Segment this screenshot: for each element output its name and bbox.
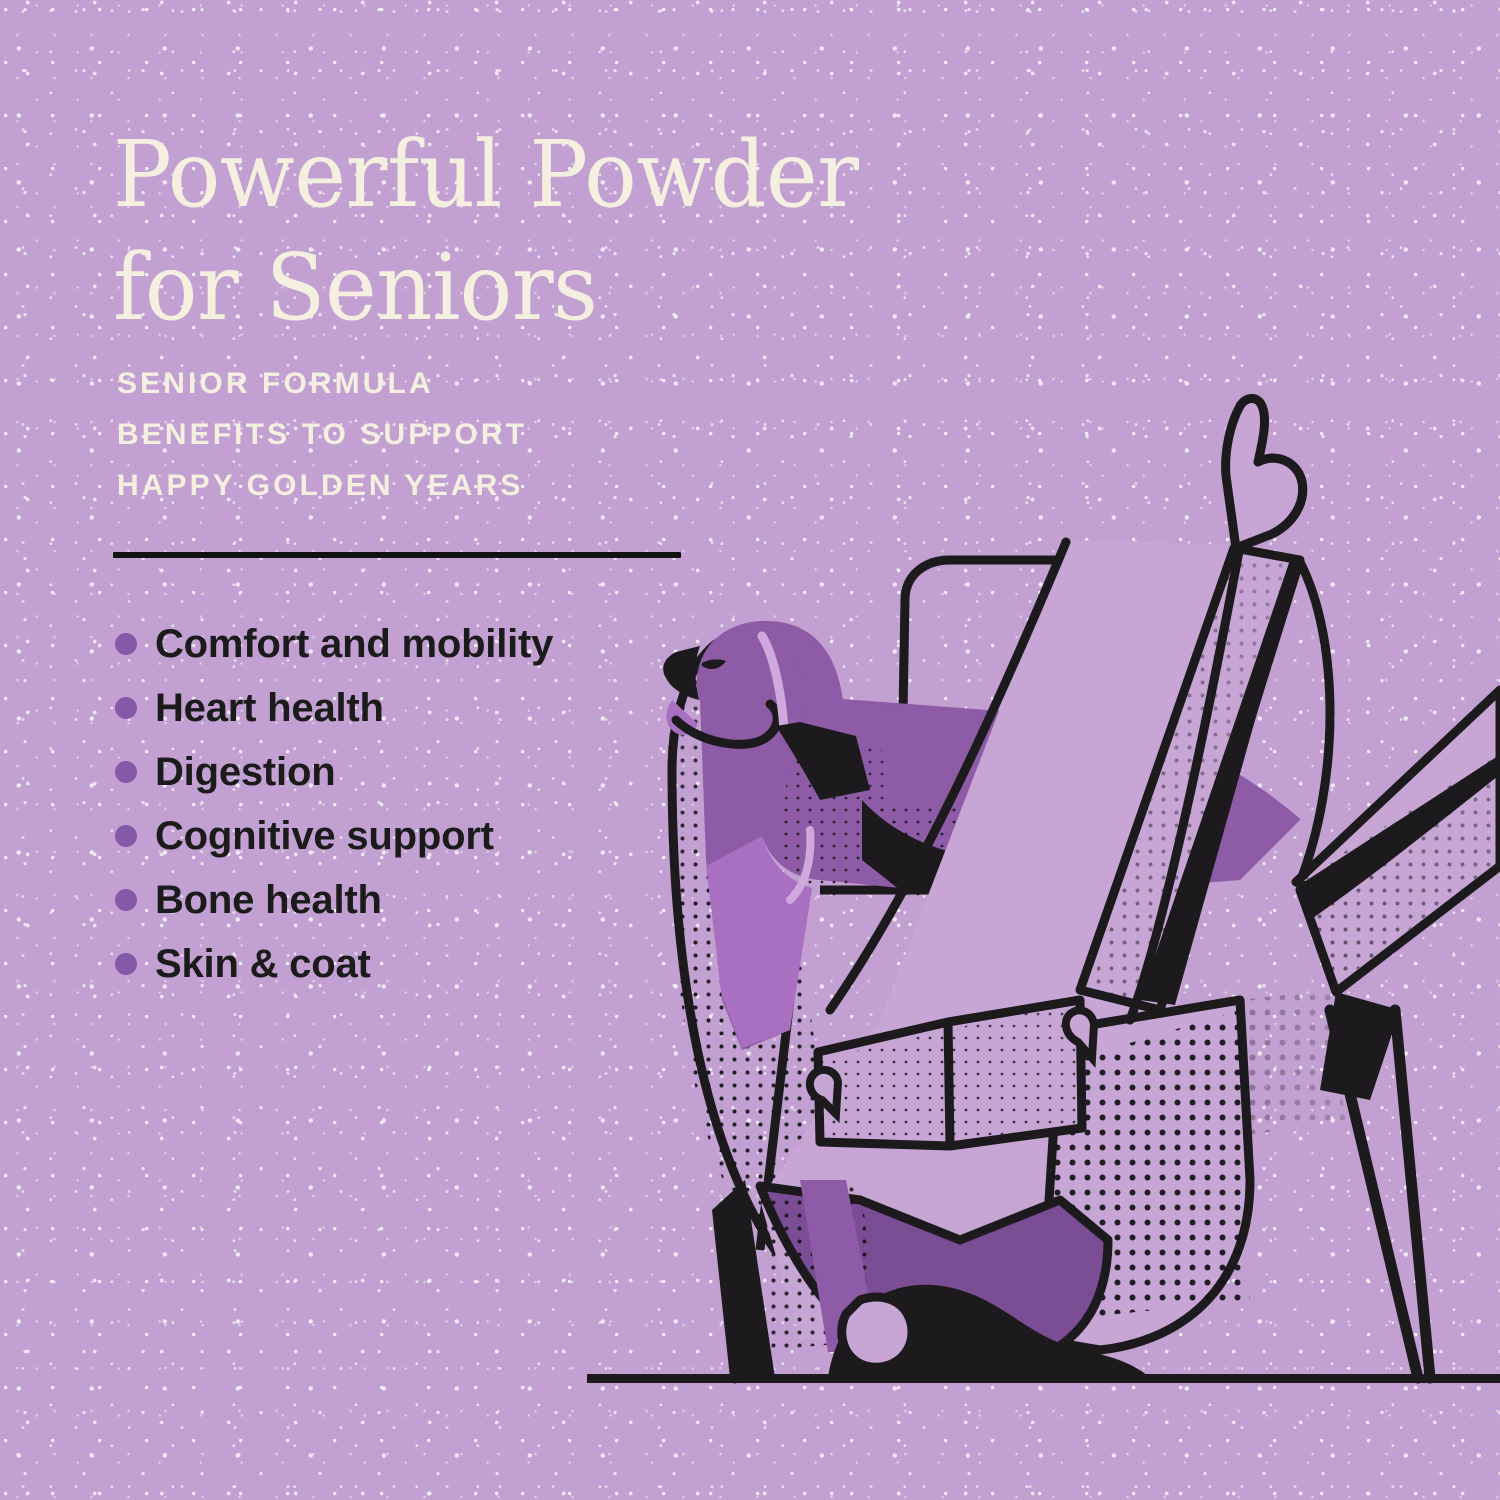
list-item: Heart health <box>115 676 553 740</box>
bullet-dot-icon <box>115 633 137 655</box>
list-item: Skin & coat <box>115 932 553 996</box>
bullet-dot-icon <box>115 953 137 975</box>
benefit-label: Skin & coat <box>155 942 371 987</box>
benefit-label: Digestion <box>155 750 335 795</box>
benefits-list: Comfort and mobility Heart health Digest… <box>115 612 553 996</box>
poster-canvas: Powerful Powder for Seniors SENIOR FORMU… <box>0 0 1500 1500</box>
list-item: Digestion <box>115 740 553 804</box>
divider <box>113 552 681 558</box>
benefit-label: Cognitive support <box>155 814 494 859</box>
list-item: Bone health <box>115 868 553 932</box>
benefit-label: Heart health <box>155 686 384 731</box>
list-item: Comfort and mobility <box>115 612 553 676</box>
benefit-label: Bone health <box>155 878 382 923</box>
bullet-dot-icon <box>115 825 137 847</box>
list-item: Cognitive support <box>115 804 553 868</box>
page-title: Powerful Powder for Seniors <box>113 118 1073 344</box>
open-book <box>810 995 1094 1150</box>
bullet-dot-icon <box>115 889 137 911</box>
benefit-label: Comfort and mobility <box>155 622 553 667</box>
bullet-dot-icon <box>115 761 137 783</box>
subheading: SENIOR FORMULA BENEFITS TO SUPPORT HAPPY… <box>117 358 817 511</box>
bullet-dot-icon <box>115 697 137 719</box>
